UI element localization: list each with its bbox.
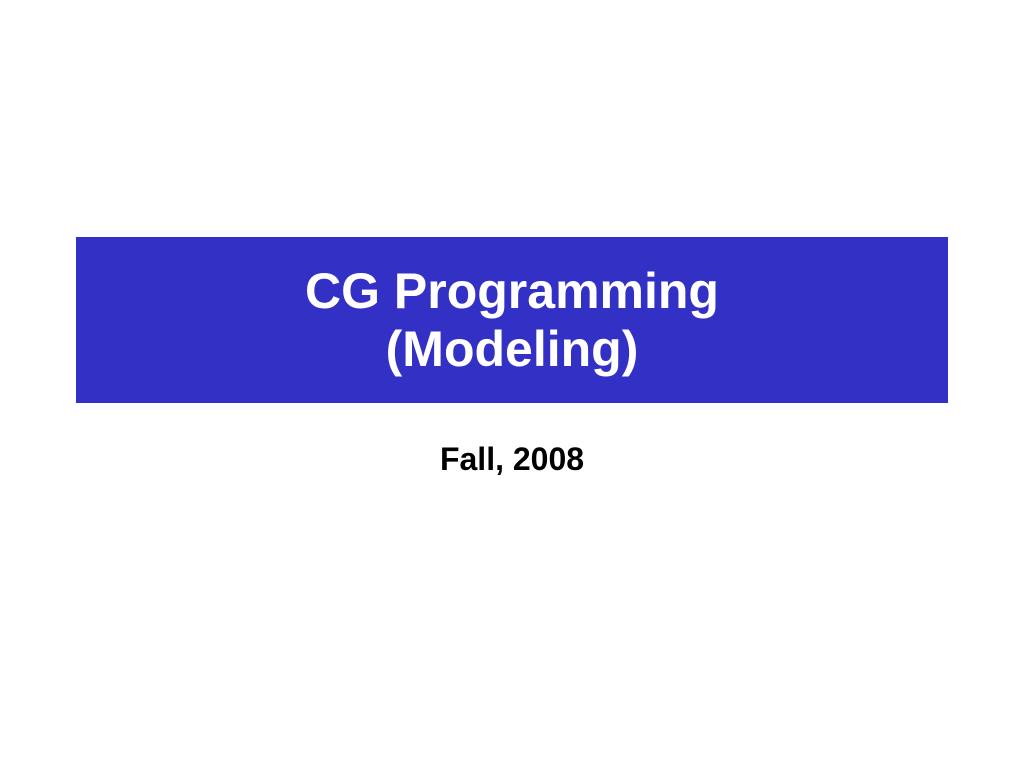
title-banner [76, 237, 948, 403]
presentation-slide: CG Programming (Modeling) Fall, 2008 [0, 0, 1024, 768]
subtitle-text-block: Fall, 2008 [0, 440, 1024, 478]
subtitle-line: Fall, 2008 [0, 440, 1024, 478]
